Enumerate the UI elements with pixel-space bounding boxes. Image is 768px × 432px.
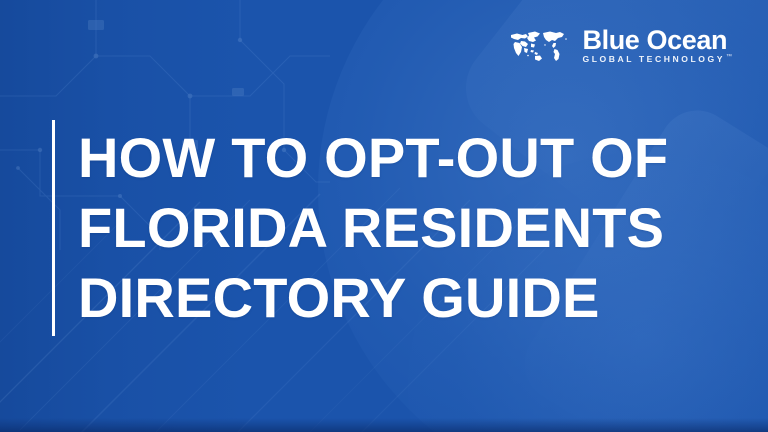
accent-vertical-rule <box>52 120 55 336</box>
brand-logo[interactable]: Blue Ocean GLOBAL TECHNOLOGY ™ <box>506 27 733 64</box>
title-line-3: DIRECTORY GUIDE <box>78 263 718 333</box>
title-line-2: FLORIDA RESIDENTS <box>78 193 718 263</box>
title-banner: Blue Ocean GLOBAL TECHNOLOGY ™ HOW TO OP… <box>0 0 768 432</box>
page-title: HOW TO OPT-OUT OF FLORIDA RESIDENTS DIRE… <box>78 123 718 333</box>
logo-tagline: GLOBAL TECHNOLOGY <box>583 55 726 64</box>
logo-text-block: Blue Ocean GLOBAL TECHNOLOGY ™ <box>583 27 733 64</box>
logo-brand-name: Blue Ocean <box>583 27 733 54</box>
logo-tagline-row: GLOBAL TECHNOLOGY ™ <box>583 55 733 64</box>
title-line-1: HOW TO OPT-OUT OF <box>78 123 718 193</box>
background-bottom-band <box>0 418 768 432</box>
world-map-icon <box>506 28 574 62</box>
trademark-symbol: ™ <box>726 54 732 60</box>
